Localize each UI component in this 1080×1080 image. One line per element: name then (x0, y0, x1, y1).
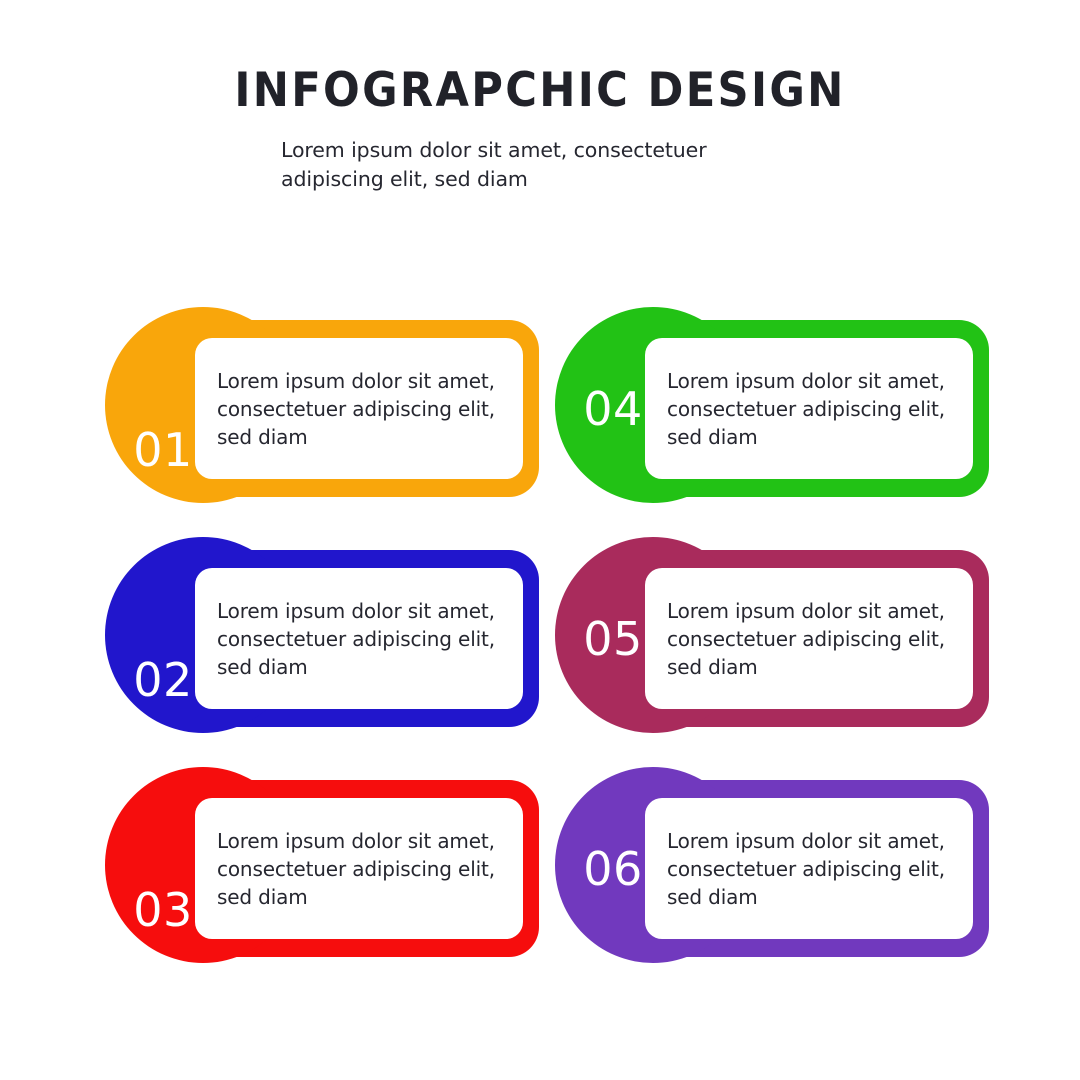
info-card-03[interactable]: Lorem ipsum dolor sit amet, consectetuer… (105, 767, 539, 963)
card-panel-01: Lorem ipsum dolor sit amet, consectetuer… (195, 338, 523, 479)
cards-grid: Lorem ipsum dolor sit amet, consectetuer… (0, 0, 1080, 1080)
card-panel-06: Lorem ipsum dolor sit amet, consectetuer… (645, 798, 973, 939)
card-number-05: 05 (573, 616, 653, 662)
info-card-01[interactable]: Lorem ipsum dolor sit amet, consectetuer… (105, 307, 539, 503)
card-number-03: 03 (123, 887, 203, 933)
card-panel-04: Lorem ipsum dolor sit amet, consectetuer… (645, 338, 973, 479)
card-text-03: Lorem ipsum dolor sit amet, consectetuer… (217, 827, 507, 911)
info-card-05[interactable]: Lorem ipsum dolor sit amet, consectetuer… (555, 537, 989, 733)
card-text-01: Lorem ipsum dolor sit amet, consectetuer… (217, 367, 507, 451)
card-text-06: Lorem ipsum dolor sit amet, consectetuer… (667, 827, 957, 911)
card-panel-03: Lorem ipsum dolor sit amet, consectetuer… (195, 798, 523, 939)
card-number-04: 04 (573, 386, 653, 432)
card-panel-05: Lorem ipsum dolor sit amet, consectetuer… (645, 568, 973, 709)
info-card-04[interactable]: Lorem ipsum dolor sit amet, consectetuer… (555, 307, 989, 503)
card-number-01: 01 (123, 427, 203, 473)
card-text-05: Lorem ipsum dolor sit amet, consectetuer… (667, 597, 957, 681)
card-panel-02: Lorem ipsum dolor sit amet, consectetuer… (195, 568, 523, 709)
card-number-02: 02 (123, 657, 203, 703)
card-number-06: 06 (573, 846, 653, 892)
infographic-page: INFOGRAPCHIC DESIGN Lorem ipsum dolor si… (0, 0, 1080, 1080)
card-text-04: Lorem ipsum dolor sit amet, consectetuer… (667, 367, 957, 451)
info-card-06[interactable]: Lorem ipsum dolor sit amet, consectetuer… (555, 767, 989, 963)
info-card-02[interactable]: Lorem ipsum dolor sit amet, consectetuer… (105, 537, 539, 733)
card-text-02: Lorem ipsum dolor sit amet, consectetuer… (217, 597, 507, 681)
